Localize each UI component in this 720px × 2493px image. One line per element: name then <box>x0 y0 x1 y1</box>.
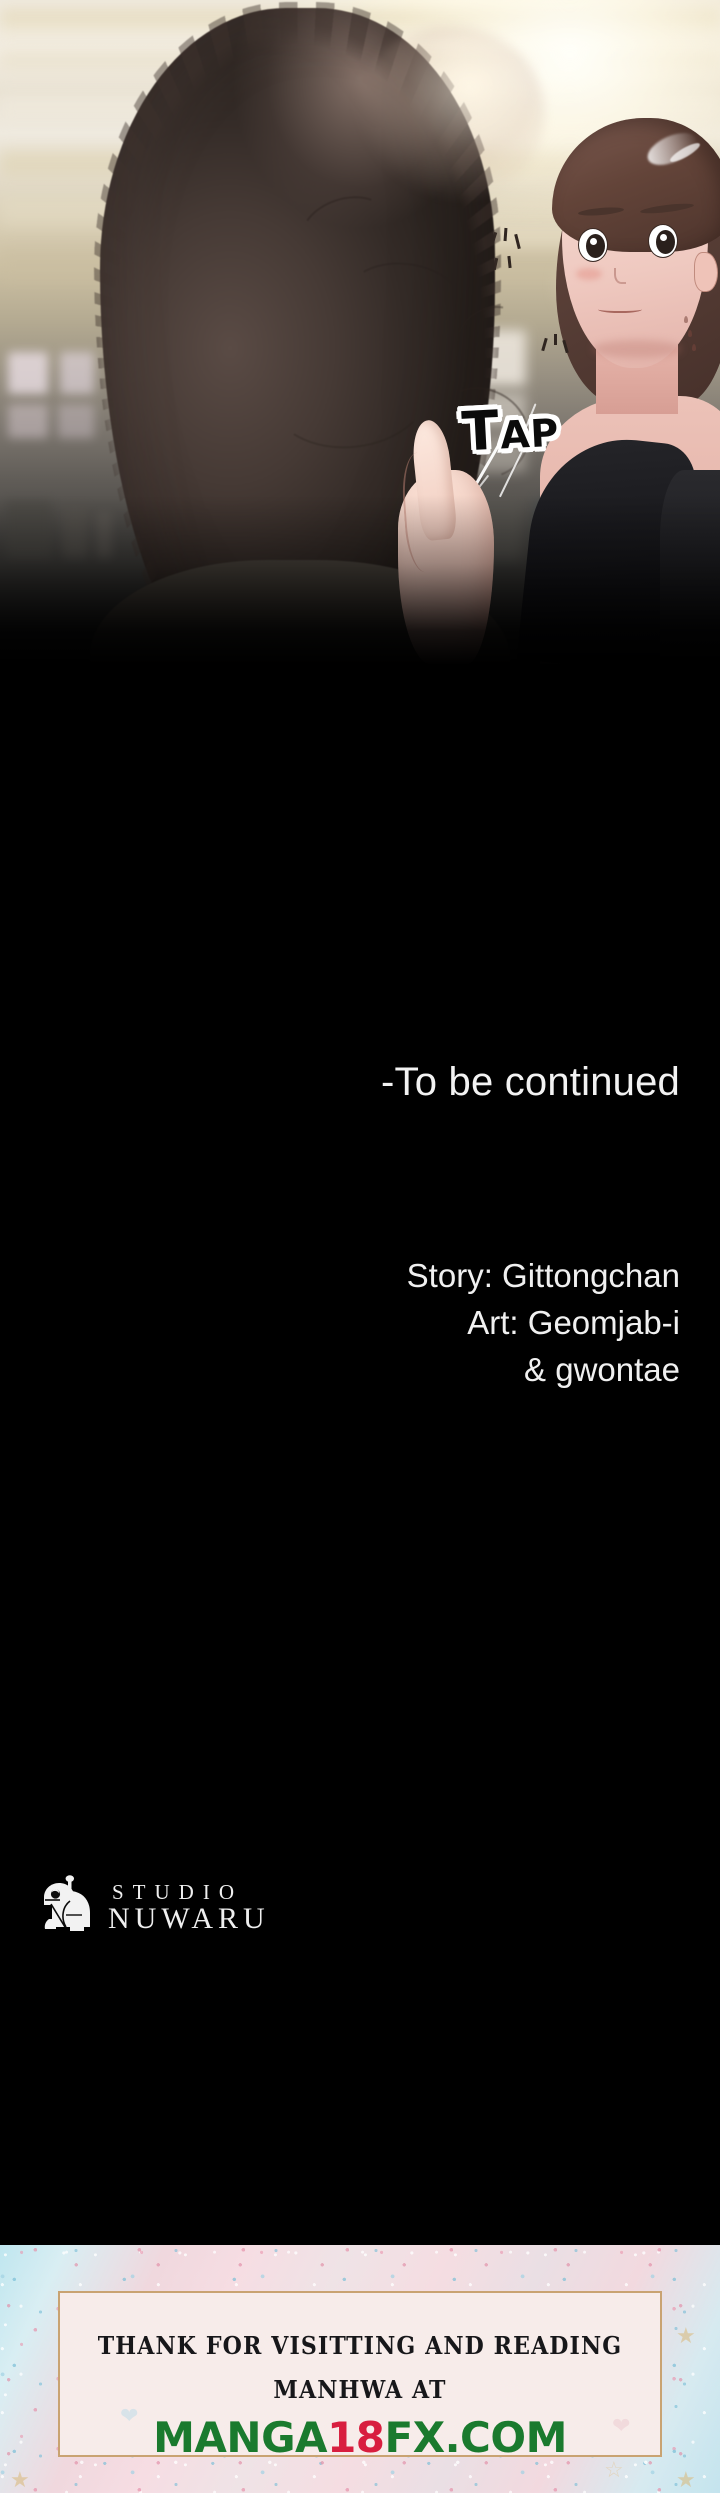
credit-line-art: Art: Geomjab-i <box>0 1300 680 1347</box>
studio-name-line1: STUDIO <box>112 1881 270 1903</box>
banner-thanks-line1: THANK FOR VISITTING AND READING <box>29 2331 691 2360</box>
woman-chin-shadow <box>592 340 682 358</box>
studio-name-line2: NUWARU <box>108 1903 270 1935</box>
star-icon: ★ <box>676 2467 696 2493</box>
woman-eye-left <box>578 228 608 262</box>
studio-wordmark: STUDIO NUWARU <box>112 1881 270 1935</box>
background-shelf <box>8 352 48 394</box>
frog-mascot-icon <box>40 1875 102 1941</box>
to-be-continued-text: -To be continued <box>0 1060 680 1105</box>
background-shelf <box>60 352 94 394</box>
site-url-part-18: 18 <box>327 2413 384 2462</box>
site-promo-banner[interactable]: ❤ ❤ ★ ☆ ★ ★ THANK FOR VISITTING AND READ… <box>0 2245 720 2493</box>
background-shelf <box>8 404 48 438</box>
woman-eye-right <box>648 224 678 258</box>
hair-curl <box>265 330 436 456</box>
sweat-drop <box>684 316 688 323</box>
background-shelf <box>58 404 94 438</box>
sweat-drop <box>692 344 696 351</box>
pupil <box>656 230 675 254</box>
credits-block: Story: Gittongchan Art: Geomjab-i & gwon… <box>0 1253 680 1394</box>
credit-line-artist2: & gwontae <box>0 1347 680 1394</box>
afro-highlight <box>355 26 545 201</box>
hair-curl <box>293 186 397 271</box>
shock-mark <box>541 338 547 351</box>
ending-section: -To be continued Story: Gittongchan Art:… <box>0 665 720 2245</box>
woman-blush <box>576 268 602 280</box>
shock-mark <box>554 334 557 345</box>
credit-line-story: Story: Gittongchan <box>0 1253 680 1300</box>
pupil <box>586 234 605 258</box>
sweat-drop <box>688 330 692 337</box>
site-url-part-manga: MANGA <box>153 2413 327 2462</box>
site-url-part-fxcom: FX.COM <box>385 2413 567 2462</box>
star-icon: ★ <box>10 2467 30 2493</box>
woman-ear <box>694 252 718 292</box>
panel-bottom-fade <box>0 495 720 665</box>
studio-logo: STUDIO NUWARU <box>40 1875 270 1941</box>
banner-thanks-line2: MANHWA AT <box>29 2375 691 2404</box>
sound-effect-tap: Tap <box>460 396 560 464</box>
site-url-link[interactable]: MANGA18FX.COM <box>0 2413 720 2462</box>
comic-panel: Tap <box>0 0 720 665</box>
woman-nose <box>614 268 626 284</box>
hair-curl <box>340 255 470 351</box>
woman-mouth <box>598 305 642 313</box>
